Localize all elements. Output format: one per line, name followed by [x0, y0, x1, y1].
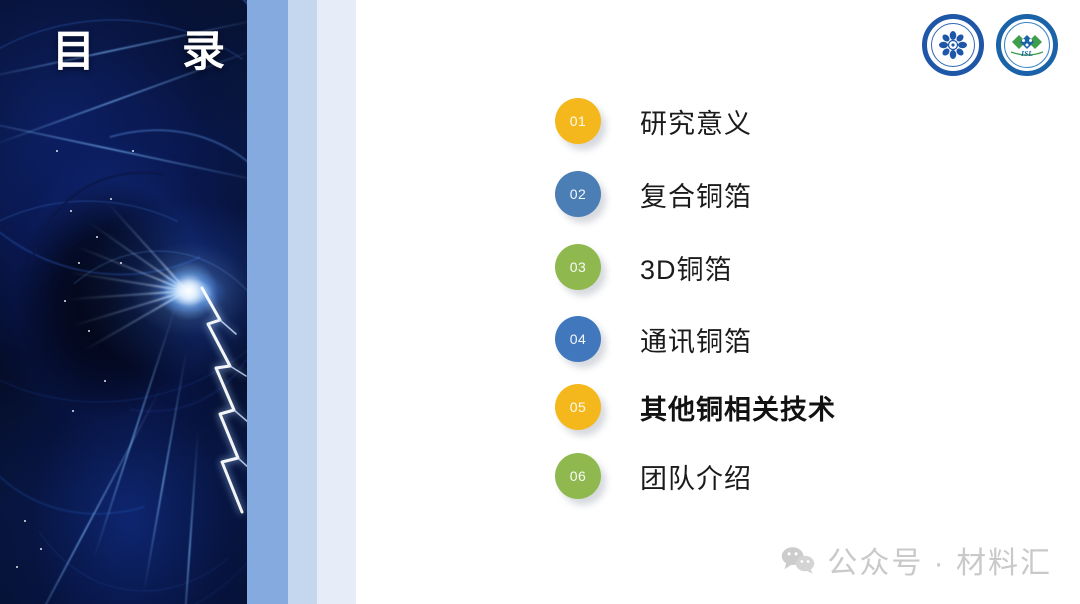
toc-entry-label: 团队介绍 [640, 457, 752, 496]
lightning-bolt-icon [150, 280, 247, 520]
watermark: 公众号 · 材料汇 [781, 538, 1052, 582]
toc-bullet-05: 05 [555, 384, 601, 430]
toc-number-label: 04 [570, 331, 587, 347]
toc-entry-label: 复合铜箔 [640, 175, 752, 214]
toc-bullet-03: 03 [555, 244, 601, 290]
accent-stripe-medium-blue [247, 0, 288, 604]
isl-diamond-mark-icon: ISL [1009, 32, 1045, 60]
page-title: 目 录 [52, 31, 247, 74]
cover-image-panel: 目 录 [0, 0, 247, 604]
toc-bullet-06: 06 [555, 453, 601, 499]
toc-item-06[interactable]: 06 团队介绍 [555, 452, 752, 500]
toc-number-label: 06 [570, 468, 587, 484]
watermark-text: 公众号 · 材料汇 [827, 538, 1052, 582]
toc-bullet-04: 04 [555, 316, 601, 362]
logo-group: ISL [922, 14, 1058, 76]
wechat-icon [781, 545, 815, 575]
toc-item-03[interactable]: 03 3D铜箔 [555, 243, 733, 291]
toc-item-01[interactable]: 01 研究意义 [555, 97, 752, 145]
accent-stripe-pale-blue [317, 0, 356, 604]
toc-number-label: 05 [570, 399, 587, 415]
toc-entry-label: 3D铜箔 [640, 248, 733, 287]
toc-number-label: 02 [570, 186, 587, 202]
toc-item-05[interactable]: 05 其他铜相关技术 [555, 383, 836, 431]
toc-item-04[interactable]: 04 通讯铜箔 [555, 315, 752, 363]
toc-entry-label: 研究意义 [640, 102, 752, 141]
toc-item-02[interactable]: 02 复合铜箔 [555, 170, 752, 218]
svg-text:ISL: ISL [1020, 49, 1033, 58]
presentation-slide: 目 录 [0, 0, 1080, 604]
toc-number-label: 03 [570, 259, 587, 275]
toc-bullet-01: 01 [555, 98, 601, 144]
atom-flower-icon [938, 30, 968, 60]
university-seal-logo [922, 14, 984, 76]
isl-institute-logo: ISL [996, 14, 1058, 76]
toc-number-label: 01 [570, 113, 587, 129]
toc-entry-label: 其他铜相关技术 [640, 388, 836, 427]
toc-bullet-02: 02 [555, 171, 601, 217]
accent-stripe-light-blue [288, 0, 317, 604]
toc-entry-label: 通讯铜箔 [640, 320, 752, 359]
